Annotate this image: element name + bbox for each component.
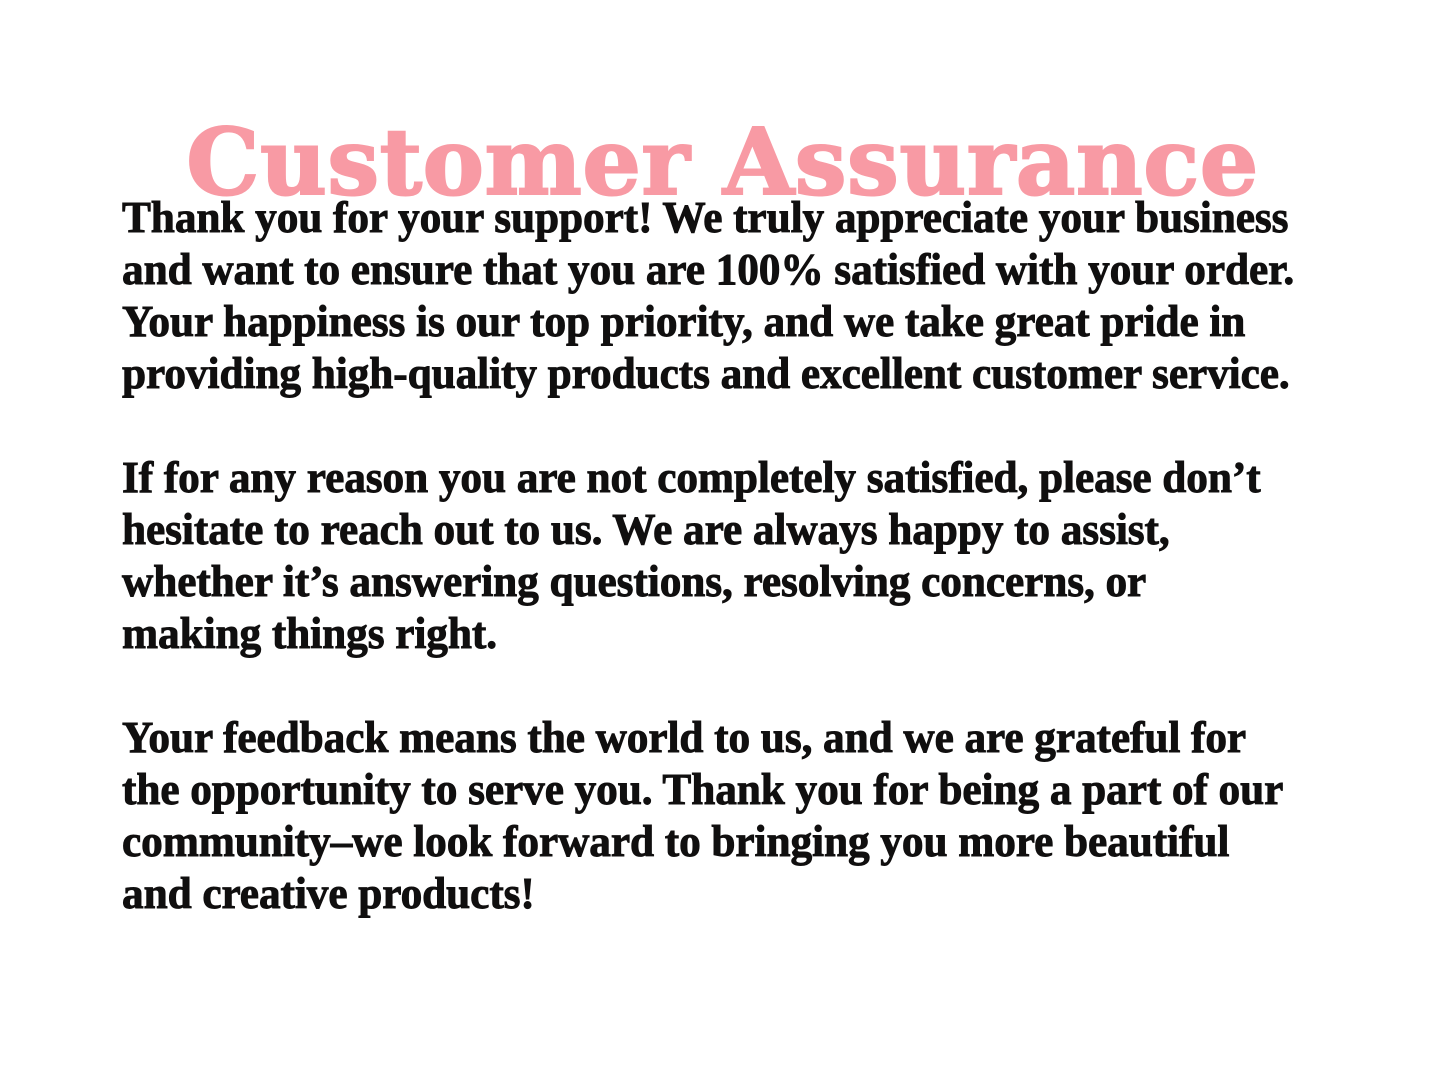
paragraph-2: If for any reason you are not completely… xyxy=(122,452,1294,660)
assurance-page: Customer Assurance Thank you for your su… xyxy=(0,0,1445,1084)
paragraph-3: Your feedback means the world to us, and… xyxy=(122,712,1294,920)
paragraph-1: Thank you for your support! We truly app… xyxy=(122,192,1294,400)
body-text-block: Thank you for your support! We truly app… xyxy=(122,192,1312,920)
